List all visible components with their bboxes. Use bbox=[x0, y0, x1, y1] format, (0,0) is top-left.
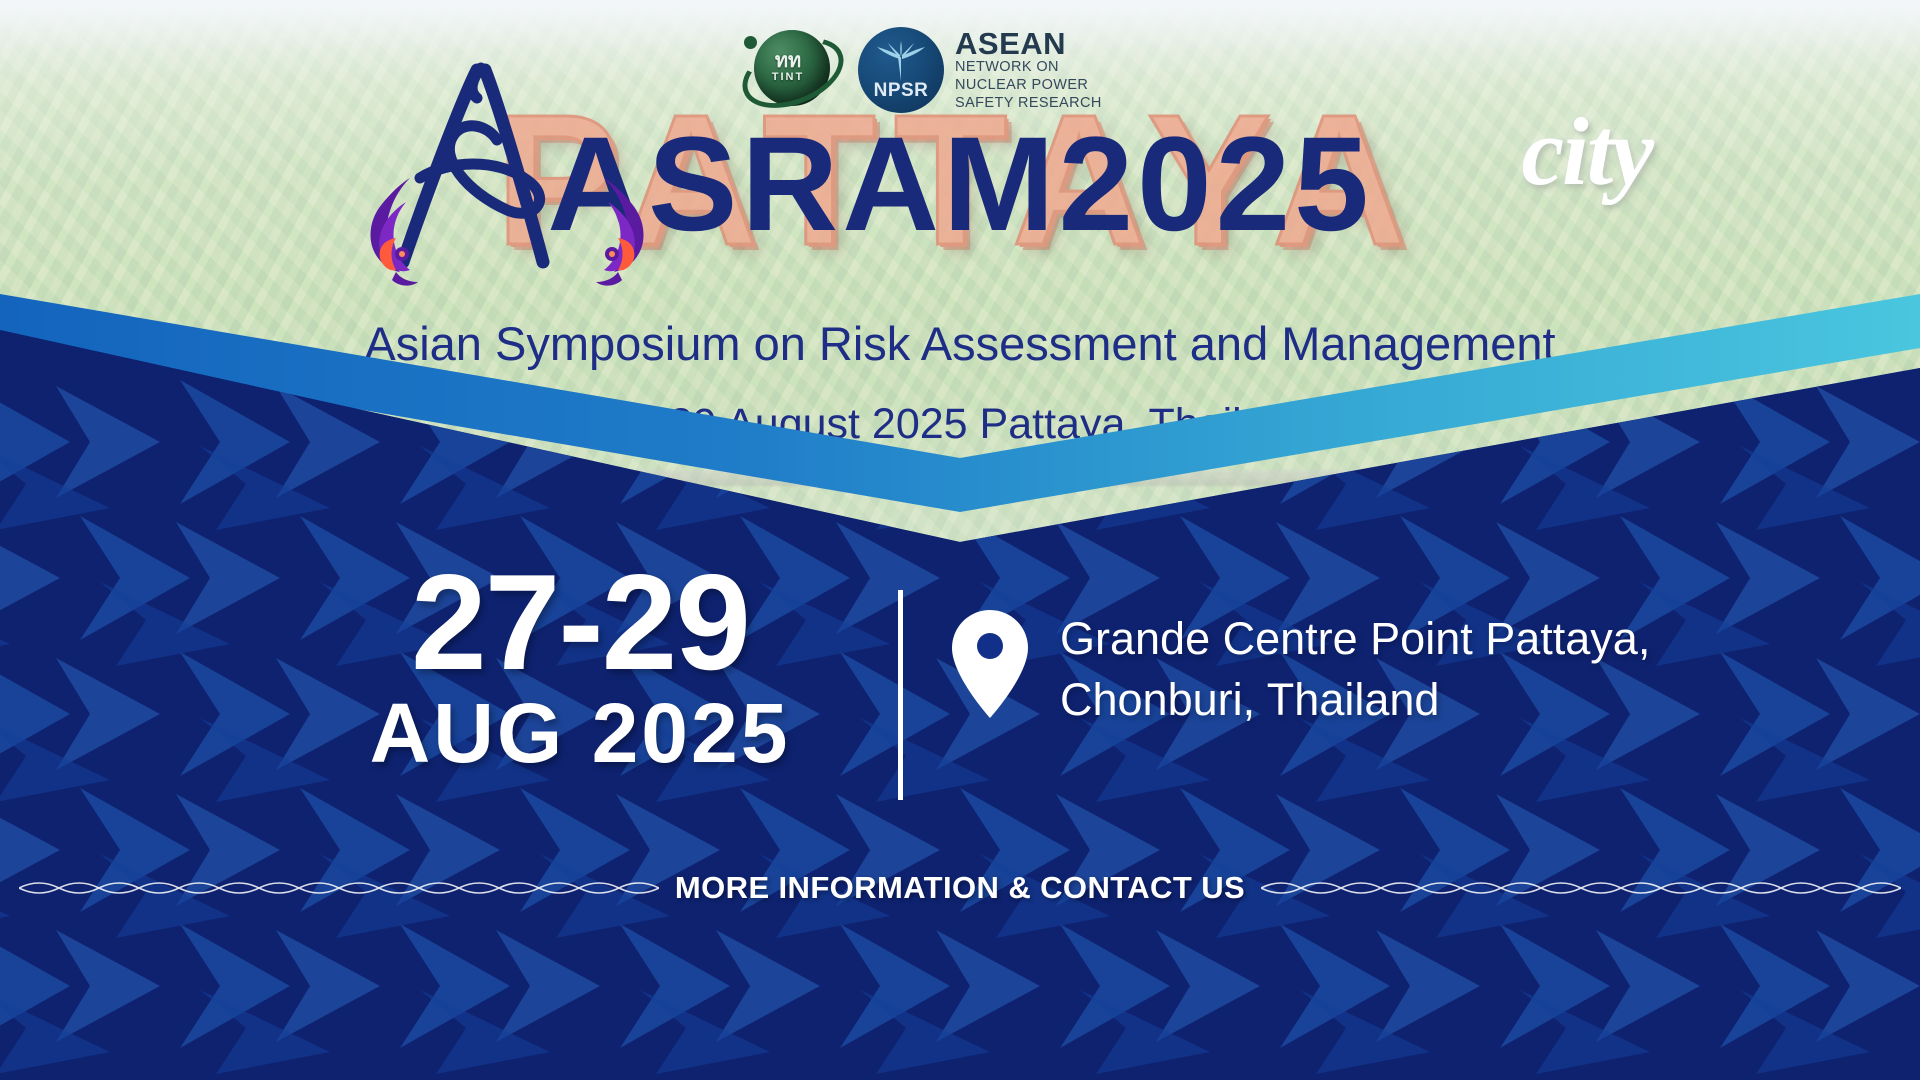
npsr-label: NPSR bbox=[858, 80, 944, 102]
npsr-circle-badge: NPSR bbox=[858, 27, 944, 113]
asean-wordmark: ASEAN NETWORK ON NUCLEAR POWER SAFETY RE… bbox=[955, 28, 1102, 113]
footer-contact-row: https://indico.tintrd.com/e/asram2025 ht… bbox=[0, 905, 1920, 1080]
event-date-block: 27-29 AUG 2025 bbox=[320, 560, 840, 777]
asean-sub-line-1: NETWORK ON bbox=[955, 59, 1102, 77]
tint-logo-text: ทท TINT bbox=[740, 52, 836, 82]
tint-abbr: TINT bbox=[740, 72, 836, 83]
chain-divider-right-icon bbox=[1261, 877, 1901, 899]
tint-thai-name: ทท bbox=[775, 50, 801, 72]
venue-line-1: Grande Centre Point Pattaya, bbox=[1060, 608, 1650, 669]
tint-orbit-dot-icon bbox=[744, 36, 757, 49]
asean-title: ASEAN bbox=[955, 28, 1102, 60]
chain-divider-left-icon bbox=[19, 877, 659, 899]
organizer-logos: ทท TINT NPSR ASEAN bbox=[740, 22, 1102, 118]
event-days: 27-29 bbox=[320, 560, 840, 685]
thai-flame-ornament-right-icon bbox=[590, 176, 648, 288]
vertical-divider bbox=[898, 590, 903, 800]
asean-npsr-logo: NPSR ASEAN NETWORK ON NUCLEAR POWER SAFE… bbox=[858, 27, 1102, 113]
venue-address: Grande Centre Point Pattaya, Chonburi, T… bbox=[1060, 608, 1650, 730]
conference-poster: PATTAYA city ทท TINT bbox=[0, 0, 1920, 1080]
venue-line-2: Chonburi, Thailand bbox=[1060, 669, 1650, 730]
npsr-fan-icon bbox=[873, 41, 929, 81]
venue-block: Grande Centre Point Pattaya, Chonburi, T… bbox=[950, 608, 1650, 730]
asram-wordmark: ASRAM2025 bbox=[0, 118, 1920, 252]
tint-logo: ทท TINT bbox=[740, 22, 836, 118]
thai-flame-ornament-left-icon bbox=[366, 176, 424, 288]
map-pin-icon bbox=[950, 608, 1030, 720]
asean-sub-line-2: NUCLEAR POWER bbox=[955, 77, 1102, 95]
event-month-year: AUG 2025 bbox=[320, 691, 840, 777]
contact-heading: MORE INFORMATION & CONTACT US bbox=[675, 870, 1245, 906]
